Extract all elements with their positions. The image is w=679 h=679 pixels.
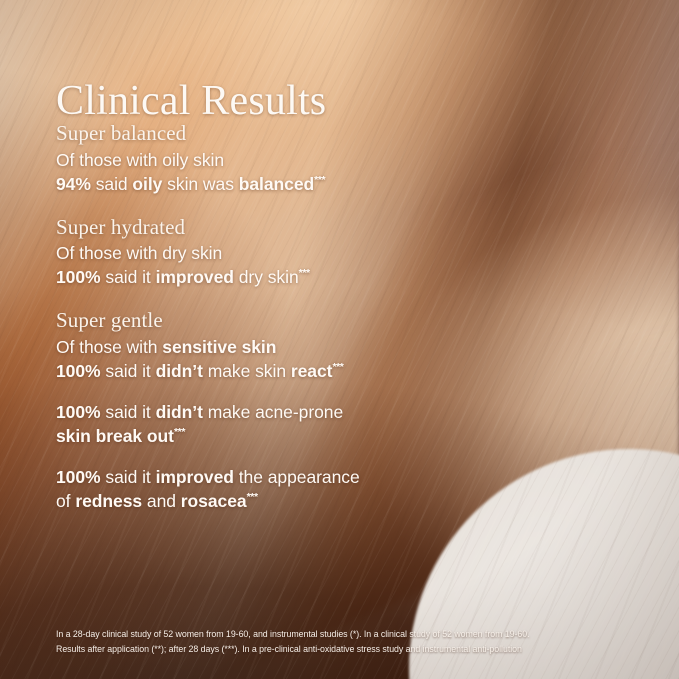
emphasis-text: redness [75,491,142,511]
result-block-heading: Super balanced [56,120,616,148]
footnote-line-1: In a 28-day clinical study of 52 women f… [56,627,615,642]
plain-text: of [56,491,75,511]
result-block: Super balancedOf those with oily skin94%… [56,120,616,197]
footnote-line-2: Results after application (**); after 28… [56,642,615,657]
result-block-line: skin break out*** [56,425,616,449]
plain-text: and [142,491,181,511]
emphasis-text: balanced [239,174,314,194]
plain-text: Of those with dry skin [56,243,222,263]
result-block-heading: Super hydrated [56,214,616,242]
footnote-marker: *** [174,426,185,438]
result-block-line: Of those with sensitive skin [56,336,616,360]
result-block: 100% said it didn’t make acne-proneskin … [56,401,616,449]
emphasis-text: didn’t [156,361,203,381]
result-block: Super gentleOf those with sensitive skin… [56,307,616,384]
content-area: Clinical Results Super balancedOf those … [0,0,679,679]
footnote-marker: *** [299,268,310,280]
result-block-line: Of those with dry skin [56,242,616,266]
result-block-line: Of those with oily skin [56,149,616,173]
plain-text: make skin [203,361,291,381]
result-block-line: 100% said it improved the appearance [56,466,616,490]
emphasis-text: improved [156,467,234,487]
result-block-line: 94% said oily skin was balanced*** [56,173,616,197]
result-block-heading: Super gentle [56,307,616,335]
emphasis-text: rosacea [181,491,247,511]
plain-text: the appearance [234,467,360,487]
emphasis-text: react [291,361,333,381]
plain-text: said it [101,467,156,487]
result-block: Super hydratedOf those with dry skin100%… [56,214,616,291]
result-block-line: 100% said it didn’t make skin react*** [56,360,616,384]
result-block-line: of redness and rosacea*** [56,490,616,514]
result-block-line: 100% said it didn’t make acne-prone [56,401,616,425]
footnote-disclaimer: In a 28-day clinical study of 52 women f… [56,627,615,657]
result-block: 100% said it improved the appearanceof r… [56,466,616,514]
emphasis-text: 100% [56,361,101,381]
emphasis-text: improved [156,267,234,287]
emphasis-text: didn’t [156,402,203,422]
plain-text: skin was [162,174,238,194]
emphasis-text: 100% [56,267,101,287]
footnote-marker: *** [314,174,325,186]
emphasis-text: oily [132,174,162,194]
footnote-marker: *** [332,361,343,373]
clinical-results-panel: Clinical Results Super balancedOf those … [0,0,679,679]
plain-text: dry skin [234,267,299,287]
emphasis-text: 94% [56,174,91,194]
emphasis-text: 100% [56,467,101,487]
plain-text: Of those with [56,337,162,357]
emphasis-text: 100% [56,402,101,422]
results-list: Super balancedOf those with oily skin94%… [56,120,616,531]
plain-text: said [91,174,133,194]
plain-text: said it [101,402,156,422]
plain-text: said it [101,361,156,381]
result-block-line: 100% said it improved dry skin*** [56,266,616,290]
page-title: Clinical Results [56,80,326,122]
footnote-marker: *** [247,491,258,503]
plain-text: Of those with oily skin [56,150,224,170]
plain-text: make acne-prone [203,402,343,422]
plain-text: said it [101,267,156,287]
emphasis-text: sensitive skin [162,337,276,357]
emphasis-text: skin break out [56,426,174,446]
